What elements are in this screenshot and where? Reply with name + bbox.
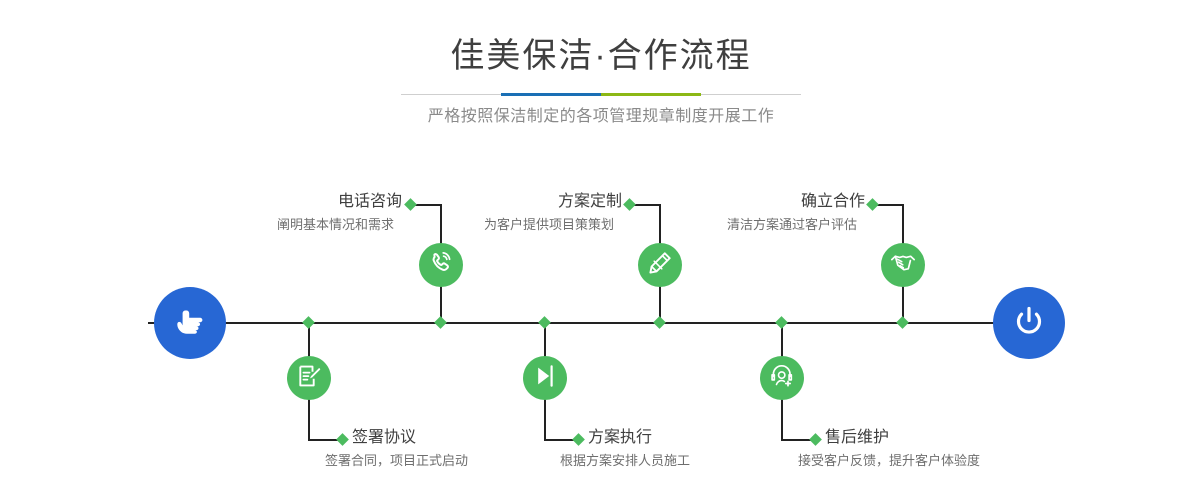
step-title-2: 签署协议 bbox=[352, 427, 416, 449]
pointing-hand-icon bbox=[170, 301, 210, 346]
axis-diamond-1 bbox=[434, 316, 447, 329]
pencil-design-icon bbox=[647, 250, 673, 281]
label-diamond-4 bbox=[572, 433, 585, 446]
step-icon-circle-3[interactable] bbox=[638, 243, 682, 287]
step-icon-circle-6[interactable] bbox=[760, 356, 804, 400]
step-icon-circle-5[interactable] bbox=[881, 243, 925, 287]
step-title-3: 方案定制 bbox=[390, 191, 622, 213]
cooperation-process-infographic: 佳美保洁·合作流程 严格按照保洁制定的各项管理规章制度开展工作 bbox=[0, 0, 1202, 502]
process-timeline: 电话咨询 阐明基本情况和需求 签署协议 bbox=[0, 0, 1202, 502]
timeline-start-endpoint bbox=[154, 287, 226, 359]
label-diamond-3 bbox=[623, 198, 636, 211]
step-title-5: 确立合作 bbox=[635, 191, 865, 213]
axis-diamond-2 bbox=[302, 316, 315, 329]
step-desc-2: 签署合同，项目正式启动 bbox=[325, 451, 468, 471]
step-title-1: 电话咨询 bbox=[170, 191, 402, 213]
timeline-axis bbox=[148, 322, 1054, 324]
label-diamond-6 bbox=[809, 433, 822, 446]
axis-diamond-3 bbox=[653, 316, 666, 329]
step-icon-circle-4[interactable] bbox=[523, 356, 567, 400]
label-diamond-5 bbox=[866, 198, 879, 211]
step-desc-6: 接受客户反馈，提升客户体验度 bbox=[798, 451, 980, 471]
step-title-4: 方案执行 bbox=[588, 427, 652, 449]
timeline-end-endpoint bbox=[993, 287, 1065, 359]
step-icon-circle-2[interactable] bbox=[287, 356, 331, 400]
customer-service-icon bbox=[769, 363, 795, 394]
axis-diamond-4 bbox=[538, 316, 551, 329]
phone-ringing-icon bbox=[428, 250, 454, 281]
step-title-6: 售后维护 bbox=[825, 427, 889, 449]
step-desc-4: 根据方案安排人员施工 bbox=[560, 451, 690, 471]
step-desc-3: 为客户提供项目策策划 bbox=[360, 215, 614, 235]
step-icon-circle-1[interactable] bbox=[419, 243, 463, 287]
axis-diamond-5 bbox=[896, 316, 909, 329]
handshake-icon bbox=[890, 250, 916, 281]
label-diamond-2 bbox=[336, 433, 349, 446]
step-desc-1: 阐明基本情况和需求 bbox=[140, 215, 394, 235]
document-edit-icon bbox=[296, 363, 322, 394]
axis-diamond-6 bbox=[775, 316, 788, 329]
power-icon bbox=[1009, 301, 1049, 346]
step-desc-5: 清洁方案通过客户评估 bbox=[605, 215, 857, 235]
play-execute-icon bbox=[532, 363, 558, 394]
